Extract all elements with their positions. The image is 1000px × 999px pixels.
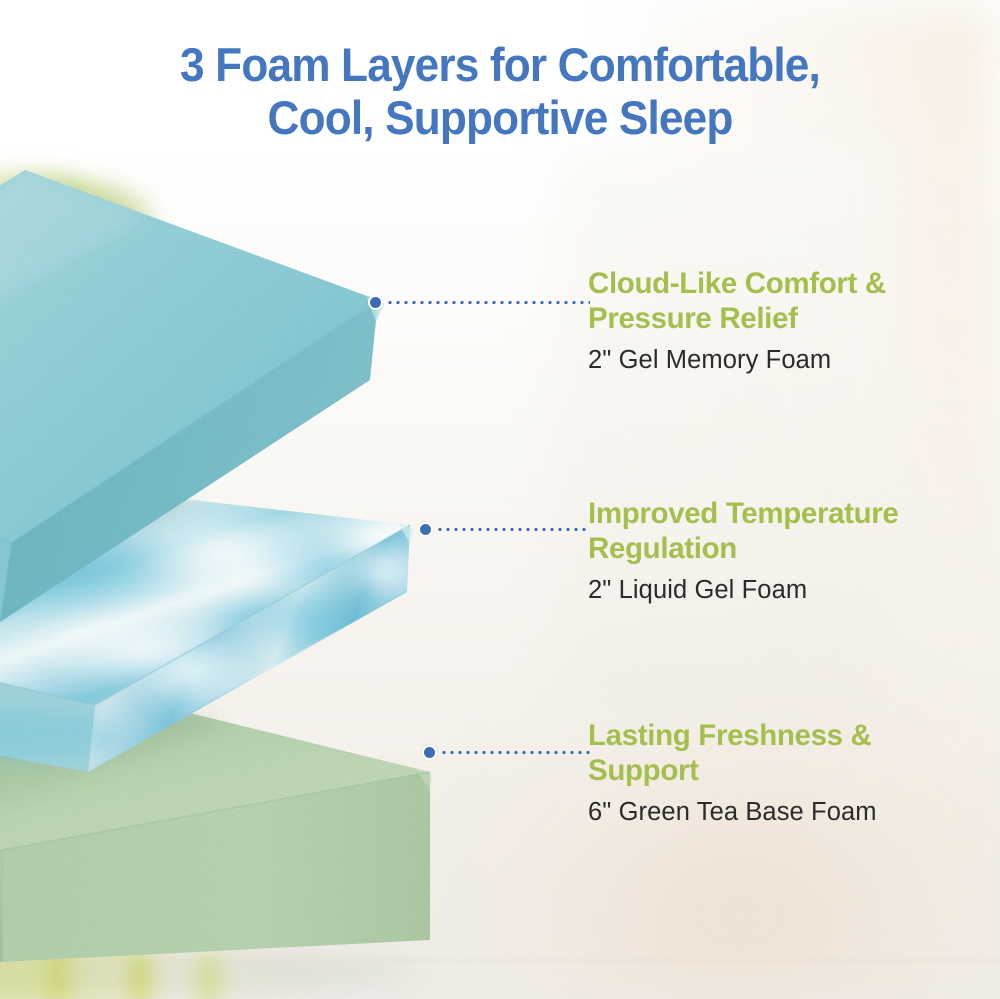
callout-subtitle: 6" Green Tea Base Foam	[588, 797, 988, 827]
leader-line-bottom-layer	[422, 744, 590, 760]
leader-dot-icon	[422, 745, 437, 760]
leader-dot-icon	[368, 295, 383, 310]
leader-dotted-line	[386, 301, 590, 304]
infographic-canvas: 3 Foam Layers for Comfortable, Cool, Sup…	[0, 0, 1000, 999]
leader-line-top-layer	[368, 294, 590, 310]
callout-title: Cloud-Like Comfort & Pressure Relief	[588, 266, 988, 336]
callout-subtitle: 2" Liquid Gel Foam	[588, 575, 988, 605]
callout-middle-layer: Improved Temperature Regulation 2" Liqui…	[588, 496, 988, 605]
leader-dot-icon	[418, 522, 433, 537]
callout-top-layer: Cloud-Like Comfort & Pressure Relief 2" …	[588, 266, 988, 375]
page-title: 3 Foam Layers for Comfortable, Cool, Sup…	[30, 38, 970, 144]
page-title-line-1: 3 Foam Layers for Comfortable,	[30, 38, 970, 91]
callout-subtitle: 2" Gel Memory Foam	[588, 345, 988, 375]
leader-line-middle-layer	[418, 521, 590, 537]
callout-title: Lasting Freshness & Support	[588, 718, 988, 788]
leader-dotted-line	[436, 528, 590, 531]
page-title-line-2: Cool, Supportive Sleep	[30, 91, 970, 144]
callout-bottom-layer: Lasting Freshness & Support 6" Green Tea…	[588, 718, 988, 827]
foam-layer-stack-illustration	[0, 150, 630, 999]
callout-title: Improved Temperature Regulation	[588, 496, 988, 566]
leader-dotted-line	[440, 751, 590, 754]
